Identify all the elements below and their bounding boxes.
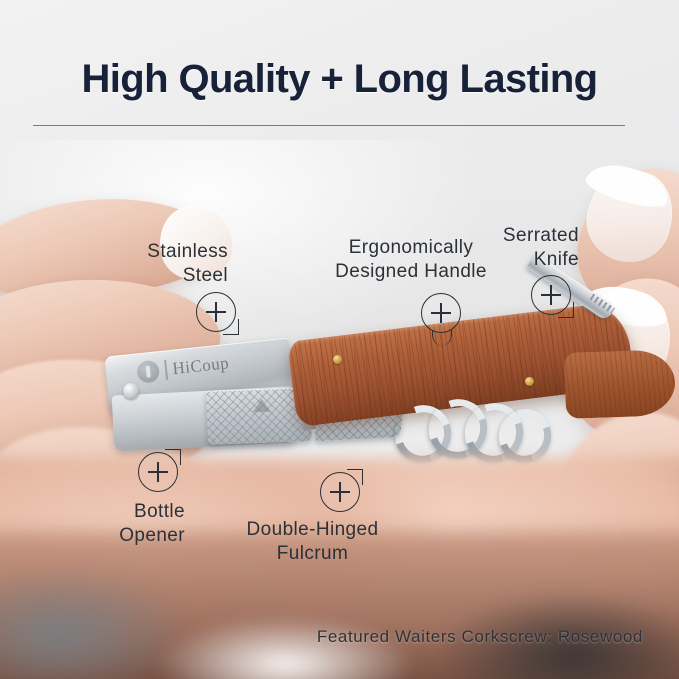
- annotation-label-serrated-knife: Serrated Knife: [424, 224, 579, 273]
- marker-pointer: [223, 319, 239, 335]
- page-title: High Quality + Long Lasting: [0, 57, 679, 102]
- marker-pointer: [558, 302, 574, 318]
- hicoup-monogram-icon: [136, 360, 160, 384]
- marker-pointer: [165, 449, 181, 465]
- annotation-marker-stainless-steel[interactable]: [196, 292, 236, 332]
- title-divider: [33, 125, 625, 126]
- plus-icon: [215, 302, 217, 322]
- annotation-marker-ergonomic-handle[interactable]: [421, 293, 461, 333]
- waiters-corkscrew: HiCoup: [95, 325, 640, 460]
- product-infographic: High Quality + Long Lasting: [0, 0, 679, 679]
- annotation-marker-serrated-knife[interactable]: [531, 275, 571, 315]
- brass-pin: [333, 355, 342, 364]
- logo-divider: [164, 360, 168, 380]
- annotation-marker-bottle-opener[interactable]: [138, 452, 178, 492]
- plus-icon: [550, 285, 552, 305]
- rosewood-handle-tip: [564, 349, 676, 419]
- corkscrew-worm: [395, 399, 545, 459]
- annotation-label-bottle-opener: Bottle Opener: [40, 500, 185, 549]
- plus-icon: [157, 462, 159, 482]
- pivot-rivet: [123, 383, 139, 399]
- annotation-label-double-hinged-fulcrum: Double-Hinged Fulcrum: [205, 518, 420, 567]
- footer-caption: Featured Waiters Corkscrew: Rosewood: [0, 627, 643, 647]
- plus-icon: [339, 482, 341, 502]
- annotation-marker-double-hinged-fulcrum[interactable]: [320, 472, 360, 512]
- annotation-label-stainless-steel: Stainless Steel: [58, 240, 228, 289]
- marker-pointer: [347, 469, 363, 485]
- product-photo-scene: HiCoup: [0, 140, 679, 679]
- plus-icon: [440, 303, 442, 323]
- brass-pin: [525, 377, 534, 386]
